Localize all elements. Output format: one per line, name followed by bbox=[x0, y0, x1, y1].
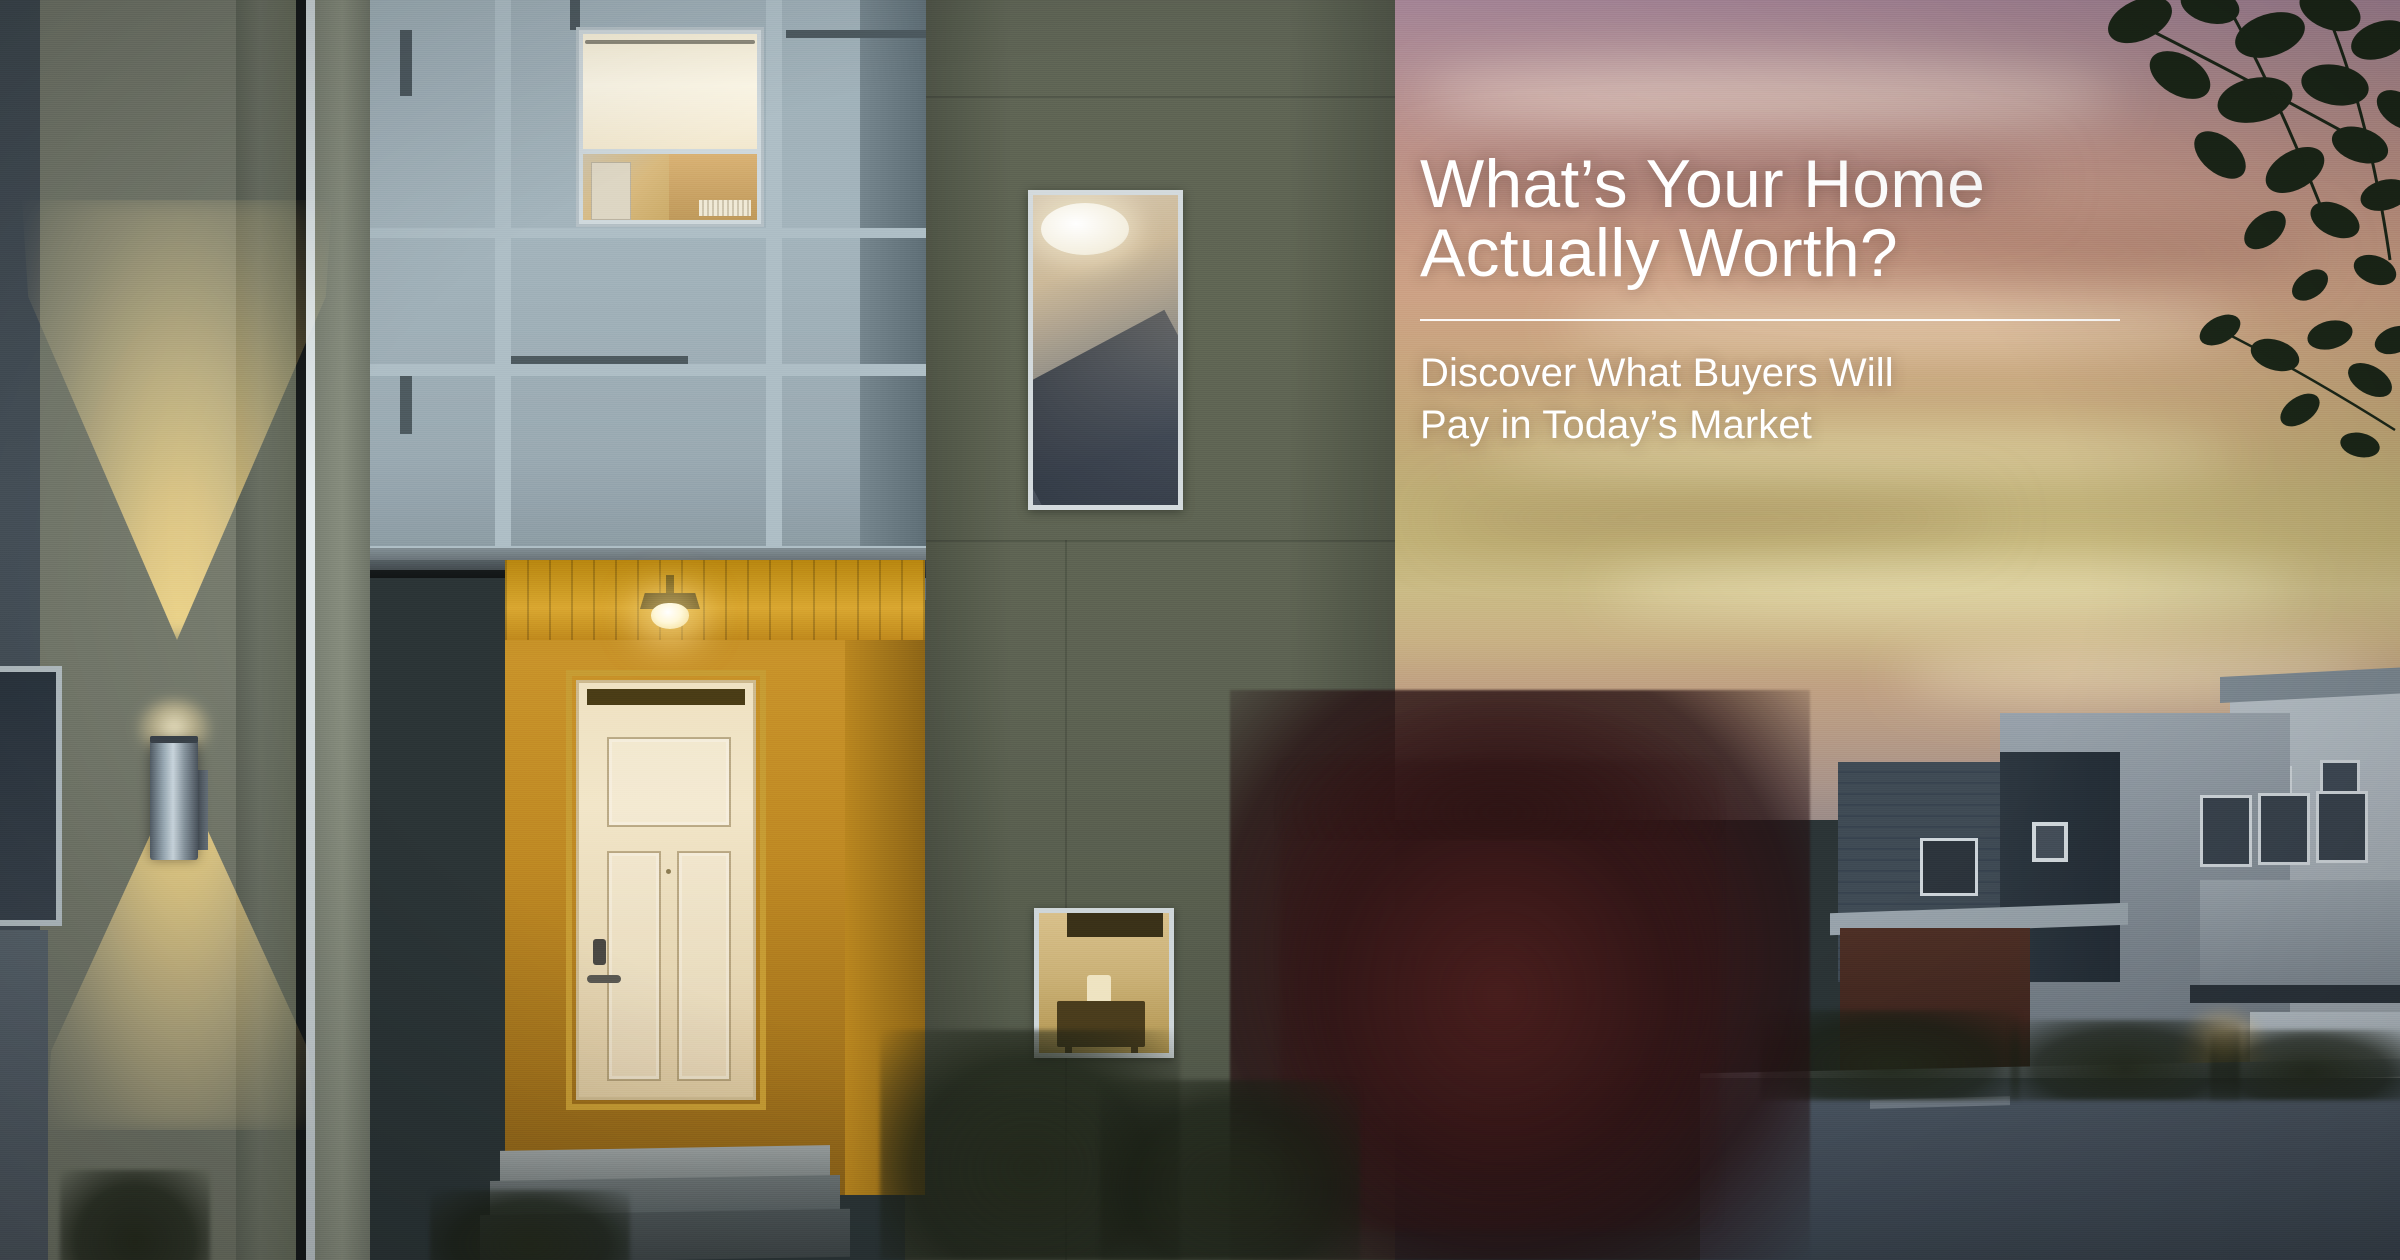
neighbor-window-band bbox=[2316, 791, 2368, 863]
interior-door bbox=[591, 162, 631, 220]
roller-shade bbox=[583, 34, 757, 149]
neighbor-window-band bbox=[2200, 795, 2252, 867]
entry-alcove-ceiling bbox=[505, 560, 925, 640]
window-interior-view bbox=[583, 154, 757, 220]
bay-trim bbox=[766, 0, 782, 560]
page-title: What’s Your Home Actually Worth? bbox=[1420, 150, 2140, 289]
sky-cloud-shadow bbox=[1430, 500, 1990, 536]
door-deadbolt[interactable] bbox=[593, 939, 606, 965]
bay-trim bbox=[400, 368, 412, 434]
front-shrub bbox=[430, 1190, 630, 1260]
interior-stairs bbox=[1028, 310, 1183, 510]
banner-subtitle: Discover What Buyers Will Pay in Today’s… bbox=[1420, 347, 2140, 451]
door-panel-lower-right bbox=[677, 851, 731, 1081]
sconce-cap bbox=[150, 736, 198, 743]
front-door[interactable] bbox=[576, 680, 756, 1100]
bay-trim bbox=[400, 30, 412, 96]
side-window bbox=[0, 666, 62, 926]
banner-copy: What’s Your Home Actually Worth? Discove… bbox=[1420, 150, 2140, 451]
wall-sconce bbox=[150, 740, 198, 860]
sky-cloud-streak bbox=[1600, 560, 2300, 618]
bay-trim bbox=[370, 228, 926, 238]
front-shrub bbox=[60, 1170, 210, 1260]
interior-blinds bbox=[699, 200, 751, 216]
lamp-stem bbox=[666, 575, 674, 595]
overhanging-leaves-lower bbox=[2180, 300, 2400, 560]
front-shrub bbox=[1100, 1080, 1360, 1260]
bay-trim bbox=[570, 0, 580, 30]
shade-rod bbox=[585, 40, 755, 44]
neighbor-window bbox=[1920, 838, 1978, 896]
porch-ceiling-lamp bbox=[640, 593, 700, 633]
wall-pilaster-inner bbox=[315, 0, 370, 1260]
door-transom-reveal bbox=[587, 689, 745, 705]
bay-trim bbox=[786, 30, 926, 38]
door-panel-lower-left bbox=[607, 851, 661, 1081]
lamp-globe bbox=[651, 603, 689, 629]
door-peephole bbox=[666, 869, 671, 874]
neighbor-window-band bbox=[2258, 793, 2310, 865]
door-lever-handle[interactable] bbox=[587, 975, 621, 983]
bay-trim bbox=[495, 0, 511, 560]
upper-bay-window bbox=[576, 27, 764, 227]
neighbor-balcony bbox=[2200, 880, 2400, 988]
divider bbox=[1420, 319, 2120, 321]
hero-banner: What’s Your Home Actually Worth? Discove… bbox=[0, 0, 2400, 1260]
bay-trim bbox=[370, 364, 926, 376]
wall-seam bbox=[905, 540, 1395, 542]
side-garage-wall bbox=[0, 930, 48, 1260]
door-panel-top bbox=[607, 737, 731, 827]
interior-upper-cabinet bbox=[1067, 913, 1163, 937]
sky-cloud-streak bbox=[1420, 60, 2120, 130]
ground-shrub bbox=[2010, 1020, 2240, 1100]
neighbor-window-small bbox=[2032, 822, 2068, 862]
wall-seam bbox=[905, 96, 1395, 98]
maple-branch-spray bbox=[1270, 700, 1730, 840]
stairwell-window bbox=[1028, 190, 1183, 510]
upper-bay-side bbox=[860, 0, 926, 600]
bay-trim bbox=[508, 356, 688, 364]
ceiling-dome-light bbox=[1041, 203, 1129, 255]
ground-shrub bbox=[2210, 1030, 2400, 1100]
